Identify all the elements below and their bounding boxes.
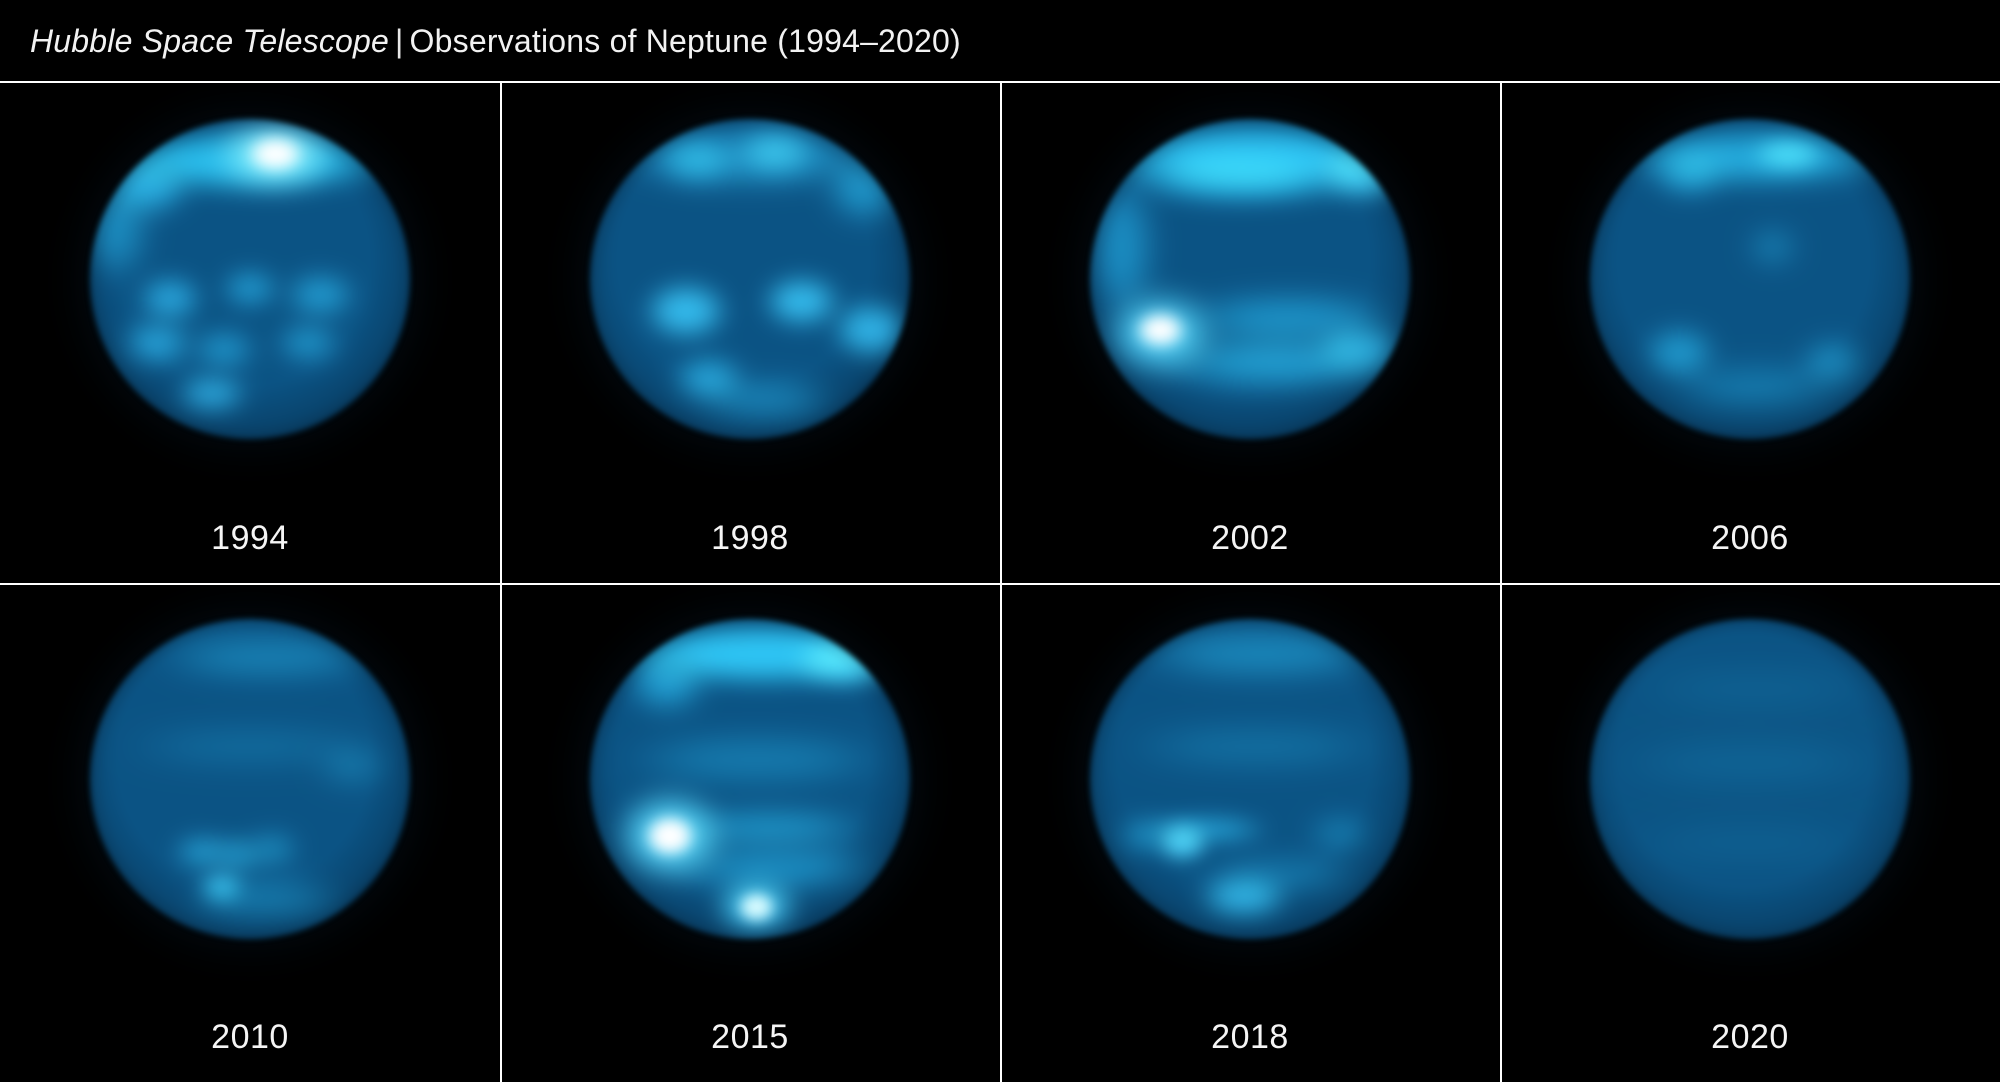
feature-mid-spot-right-1998 (763, 276, 840, 327)
disk-body-2018 (1090, 619, 1410, 939)
feature-faint-south-band-2020 (1622, 820, 1878, 865)
disk-body-2006 (1590, 119, 1910, 439)
observation-panel-2015[interactable]: 2015 (500, 583, 1000, 1082)
feature-equatorial-streak-2015 (667, 811, 872, 843)
feature-mid-spot-left-1998 (644, 282, 727, 340)
neptune-disk-1998 (590, 119, 910, 439)
feature-west-faint-clump-2018 (1116, 820, 1174, 852)
feature-mid-spot-left-1994 (138, 276, 202, 321)
feature-southeast-clump-2002 (1314, 324, 1404, 375)
neptune-observation-grid: 19941998200220062010201520182020 (0, 83, 2000, 1082)
year-label-2002: 2002 (1000, 521, 1500, 555)
feature-faint-north-band-2020 (1628, 667, 1884, 712)
feature-south-storm-halo-2015 (715, 878, 798, 936)
disk-body-2002 (1090, 119, 1410, 439)
feature-southeast-limb-clump-1998 (833, 301, 910, 359)
feature-northwest-limb-2015 (628, 654, 705, 712)
feature-faint-equatorial-band-2020 (1609, 737, 1891, 788)
neptune-disk-2020 (1590, 619, 1910, 939)
feature-north-band-east-bright-2015 (795, 635, 897, 686)
feature-north-knot-right-1998 (737, 129, 814, 174)
observation-panel-2018[interactable]: 2018 (1000, 583, 1500, 1082)
disk-body-1998 (590, 119, 910, 439)
disk-body-2010 (90, 619, 410, 939)
observation-panel-2006[interactable]: 2006 (1500, 83, 2000, 583)
year-label-1994: 1994 (0, 521, 500, 555)
feature-south-band-2010 (183, 881, 349, 919)
feature-northeast-limb-1998 (827, 157, 904, 221)
neptune-disk-2015 (590, 619, 910, 939)
year-label-2010: 2010 (0, 1020, 500, 1054)
neptune-disk-2002 (1090, 119, 1410, 439)
observation-panel-2002[interactable]: 2002 (1000, 83, 1500, 583)
title-subject: Observations of Neptune (1994–2020) (410, 23, 961, 59)
title-separator: | (389, 23, 410, 59)
feature-northwest-clump-2006 (1654, 151, 1724, 196)
feature-northeast-bright-2002 (1320, 141, 1410, 199)
observation-panel-1994[interactable]: 1994 (0, 83, 500, 583)
neptune-disk-2010 (90, 619, 410, 939)
disk-body-1994 (90, 119, 410, 439)
page-title: Hubble Space Telescope|Observations of N… (0, 25, 961, 57)
feature-south-haze-2006 (1667, 365, 1846, 410)
feature-north-knot-left-1998 (657, 138, 734, 183)
title-telescope-name: Hubble Space Telescope (30, 23, 389, 59)
feature-south-band-2018 (1199, 859, 1365, 891)
year-label-2006: 2006 (1500, 521, 2000, 555)
disk-body-2015 (590, 619, 910, 939)
feature-north-band-inner-2002 (1138, 154, 1330, 199)
feature-mid-faint-spot-2006 (1747, 228, 1798, 266)
feature-north-knot-halo-1994 (218, 119, 333, 189)
observation-panel-1998[interactable]: 1998 (500, 83, 1000, 583)
feature-mid-spot-right-1994 (285, 273, 355, 318)
neptune-disk-2006 (1590, 119, 1910, 439)
observation-panel-2020[interactable]: 2020 (1500, 583, 2000, 1082)
feature-mid-faint-band-2018 (1122, 724, 1391, 769)
feature-south-spot-right-1994 (276, 324, 340, 362)
year-label-2018: 2018 (1000, 1020, 1500, 1054)
disk-body-2020 (1590, 619, 1910, 939)
neptune-disk-1994 (90, 119, 410, 439)
year-label-2020: 2020 (1500, 1020, 2000, 1054)
header-bar: Hubble Space Telescope|Observations of N… (0, 0, 2000, 81)
feature-north-faint-band-2010 (154, 635, 384, 680)
neptune-disk-2018 (1090, 619, 1410, 939)
feature-east-faint-spot-2010 (317, 747, 387, 785)
observation-panel-2010[interactable]: 2010 (0, 583, 500, 1082)
feature-east-faint-spot-2018 (1308, 817, 1372, 849)
feature-mid-spot-center-1994 (221, 269, 279, 307)
feature-north-bright-knot-2006 (1753, 138, 1823, 170)
feature-north-faint-band-2018 (1135, 628, 1391, 679)
feature-mid-band-2015 (622, 734, 891, 785)
year-label-2015: 2015 (500, 1020, 1000, 1054)
feature-south-band-1998 (696, 381, 837, 419)
feature-south-spot-mid-1994 (192, 330, 256, 368)
year-label-1998: 1998 (500, 521, 1000, 555)
feature-far-south-spot-1994 (176, 375, 246, 413)
